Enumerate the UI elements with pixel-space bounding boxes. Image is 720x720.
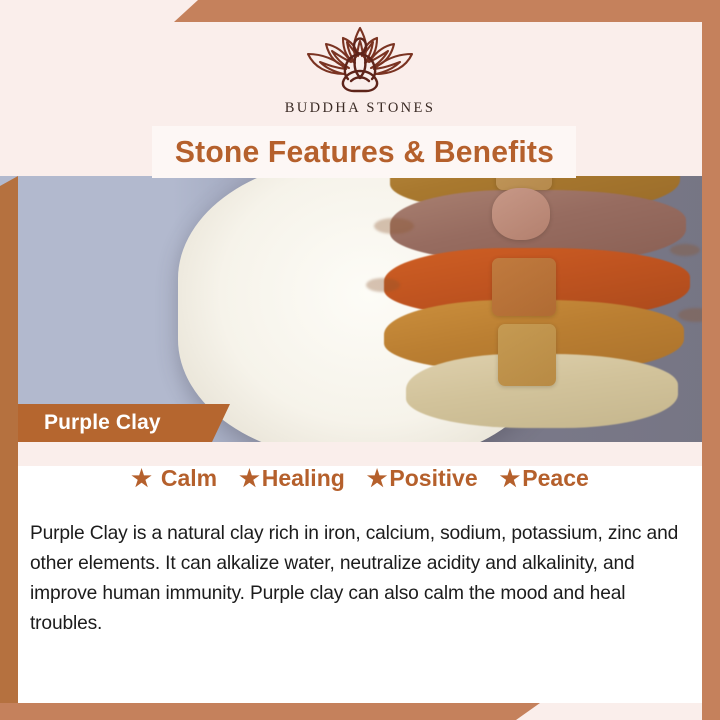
brand-name: BUDDHA STONES [0, 100, 720, 117]
product-photo [0, 176, 720, 442]
title-banner: Stone Features & Benefits [152, 126, 576, 178]
star-icon: ★ [131, 467, 152, 490]
benefits-list: ★ Calm ★ Healing ★ Positive ★ Peace [18, 460, 702, 496]
ceramic-plate [178, 176, 560, 442]
benefit-item-positive: ★ Positive [367, 465, 478, 492]
powder-streak [670, 244, 700, 256]
clay-chip-mauve [492, 188, 550, 240]
product-feature-poster: BUDDHA STONES Stone Features & Benefits … [0, 0, 720, 720]
benefit-label: Healing [262, 465, 345, 492]
star-icon: ★ [500, 467, 521, 490]
lotus-meditation-icon [281, 24, 439, 96]
product-label-text: Purple Clay [18, 411, 161, 435]
powder-streak [366, 278, 400, 292]
product-description: Purple Clay is a natural clay rich in ir… [30, 519, 692, 639]
benefit-item-healing: ★ Healing [239, 465, 345, 492]
clay-chip-rust [492, 258, 556, 316]
frame-left-accent [0, 176, 18, 704]
benefit-label: Positive [389, 465, 477, 492]
benefit-label: Peace [522, 465, 589, 492]
page-title: Stone Features & Benefits [174, 134, 553, 170]
star-icon: ★ [239, 467, 260, 490]
star-icon: ★ [367, 467, 388, 490]
product-label-ribbon: Purple Clay [18, 404, 230, 442]
clay-chip-ochre [498, 324, 556, 386]
brand-logo: BUDDHA STONES [0, 24, 720, 117]
benefit-item-calm: ★ Calm [131, 465, 217, 492]
benefit-item-peace: ★ Peace [500, 465, 589, 492]
benefit-label: Calm [161, 465, 217, 492]
powder-streak [374, 218, 414, 234]
frame-right-accent [702, 0, 720, 720]
